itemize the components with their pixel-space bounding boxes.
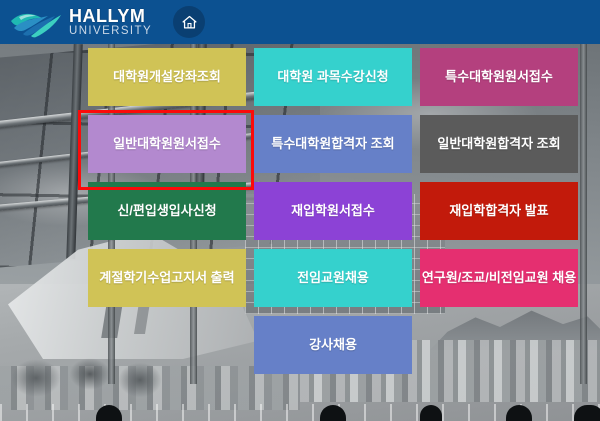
menu-tile[interactable]: 재입학합격자 발표 (420, 182, 578, 240)
menu-tile-line1: 계절학기수업 (99, 269, 171, 288)
menu-tile-line1: 재입학 (449, 202, 485, 221)
menu-tile-line2: 입사신청 (169, 202, 217, 221)
menu-tile[interactable]: 계절학기수업고지서 출력 (88, 249, 246, 307)
menu-tile-line1: 대학원 과목 (277, 68, 340, 87)
menu-tile-line1: 신/편입생 (117, 202, 168, 221)
menu-tile-line1: 강사채용 (309, 336, 357, 355)
menu-tile-line2: 비전임교원 채용 (489, 269, 576, 288)
menu-tile-line1: 일반대학원 (437, 135, 497, 154)
hallym-wave-logo-icon (9, 5, 67, 39)
menu-tile-line2: 개설강좌조회 (149, 68, 221, 87)
menu-tile[interactable]: 대학원 과목수강신청 (254, 48, 412, 106)
menu-tile[interactable]: 연구원/조교/비전임교원 채용 (420, 249, 578, 307)
menu-tile[interactable]: 신/편입생입사신청 (88, 182, 246, 240)
menu-tile-line1: 특수대학원 (445, 68, 505, 87)
header-bar: HALLYM UNIVERSITY (0, 0, 600, 44)
portal-screen: HALLYM UNIVERSITY 대학원개설강좌조회대학원 과목수강신청특수대… (0, 0, 600, 421)
menu-tile-line1: 재입학 (291, 202, 327, 221)
menu-tile-line1: 특수대학원 (271, 135, 331, 154)
menu-tile-line2: 원서접수 (173, 135, 221, 154)
menu-tile-line1: 연구원/조교/ (422, 269, 489, 288)
menu-tile-line2: 원서접수 (505, 68, 553, 87)
menu-tile[interactable]: 전임교원채용 (254, 249, 412, 307)
menu-tile-grid: 대학원개설강좌조회대학원 과목수강신청특수대학원원서접수일반대학원원서접수특수대… (88, 48, 578, 374)
home-button[interactable] (173, 6, 205, 38)
menu-tile-line2: 합격자 조회 (331, 135, 394, 154)
menu-tile[interactable]: 일반대학원합격자 조회 (420, 115, 578, 173)
menu-tile-line1: 전임교원채용 (297, 269, 369, 288)
menu-tile[interactable]: 특수대학원원서접수 (420, 48, 578, 106)
menu-tile[interactable]: 재입학원서접수 (254, 182, 412, 240)
background-silhouette (574, 405, 600, 421)
menu-tile[interactable]: 대학원개설강좌조회 (88, 48, 246, 106)
menu-tile[interactable]: 강사채용 (254, 316, 412, 374)
menu-tile-line1: 대학원 (113, 68, 149, 87)
brand-subtitle: UNIVERSITY (69, 26, 152, 38)
menu-tile-line2: 합격자 발표 (485, 202, 548, 221)
background-window-frame (580, 44, 587, 384)
menu-tile-line2: 고지서 출력 (171, 269, 234, 288)
background-silhouette (420, 405, 442, 421)
menu-tile-line2: 원서접수 (327, 202, 375, 221)
home-icon (181, 14, 198, 31)
brand-name: HALLYM (69, 7, 152, 25)
menu-tile-line1: 일반대학원 (113, 135, 173, 154)
menu-tile-line2: 수강신청 (341, 68, 389, 87)
brand-logo[interactable]: HALLYM UNIVERSITY (9, 2, 152, 42)
menu-tile-line2: 합격자 조회 (497, 135, 560, 154)
menu-tile[interactable]: 특수대학원합격자 조회 (254, 115, 412, 173)
menu-tile[interactable]: 일반대학원원서접수 (88, 115, 246, 173)
